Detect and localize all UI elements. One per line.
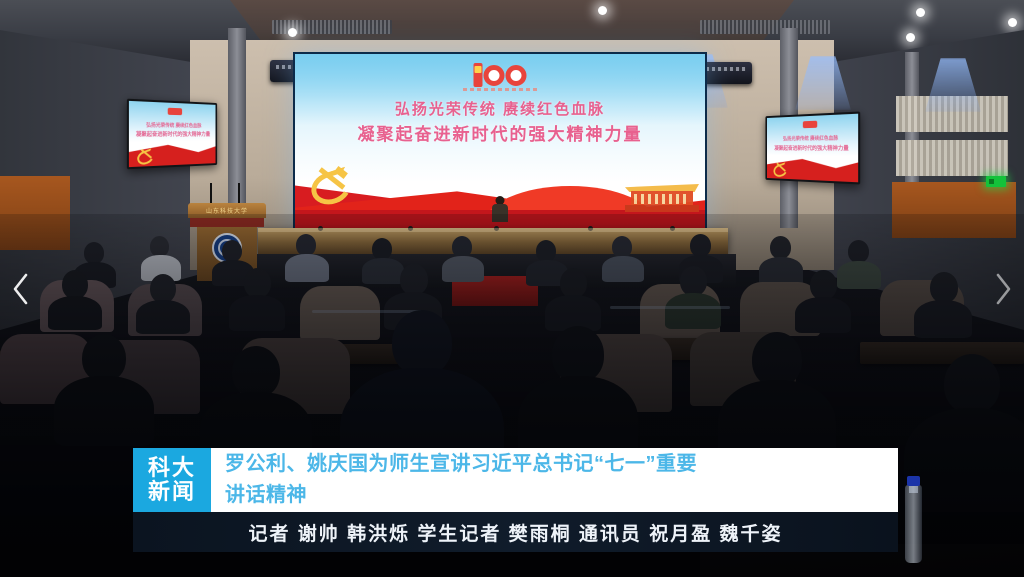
- monitor-cpc-emblem-icon: [137, 149, 155, 163]
- monitor-cpc-emblem-icon: [773, 162, 788, 175]
- bottle-cap: [907, 476, 920, 486]
- video-frame: 弘扬光荣传统 赓续红色血脉 凝聚起奋进新时代的强大精神力量: [0, 0, 1024, 577]
- anniversary-100-logo: [474, 63, 527, 87]
- stage-light: [700, 62, 752, 84]
- downlight: [916, 8, 925, 17]
- downlight: [906, 33, 915, 42]
- downlight: [598, 6, 607, 15]
- monitor-left-line1: 弘扬光荣传统 赓续红色血脉: [129, 121, 216, 129]
- downlight: [288, 28, 297, 37]
- auditorium-scene: 弘扬光荣传统 赓续红色血脉 凝聚起奋进新时代的强大精神力量: [0, 0, 1024, 577]
- next-arrow-icon[interactable]: [986, 266, 1020, 312]
- monitor-100-logo: [168, 108, 182, 115]
- monitor-100-logo: [802, 121, 816, 128]
- side-monitor-right: 弘扬光荣传统 赓续红色血脉 凝聚起奋进新时代的强大精神力量: [765, 111, 860, 184]
- monitor-right-line2: 凝聚起奋进新时代的强大精神力量: [767, 143, 858, 152]
- tiananmen-gate-icon: [625, 178, 699, 212]
- cpc-emblem-icon: [311, 168, 355, 198]
- acoustic-panel: [896, 140, 1008, 176]
- screen-headline-line2: 凝聚起奋进新时代的强大精神力量: [295, 120, 705, 145]
- exit-sign-icon: [986, 176, 1006, 187]
- side-monitor-left: 弘扬光荣传统 赓续红色血脉 凝聚起奋进新时代的强大精神力量: [127, 99, 217, 170]
- screen-headline-line1: 弘扬光荣传统 赓续红色血脉: [295, 98, 705, 119]
- anniversary-logo-subtitle: [463, 88, 537, 91]
- downlight: [1008, 18, 1017, 27]
- audience-area: [0, 214, 1024, 577]
- hvac-vent: [700, 20, 830, 34]
- projection-screen: 弘扬光荣传统 赓续红色血脉 凝聚起奋进新时代的强大精神力量: [293, 52, 707, 234]
- scene-shadow-overlay: [0, 214, 1024, 577]
- prev-arrow-icon[interactable]: [4, 266, 38, 312]
- monitor-right-line1: 弘扬光荣传统 赓续红色血脉: [767, 134, 858, 142]
- monitor-left-line2: 凝聚起奋进新时代的强大精神力量: [129, 129, 216, 138]
- water-bottle: [905, 485, 922, 563]
- pillar-left: [228, 28, 246, 228]
